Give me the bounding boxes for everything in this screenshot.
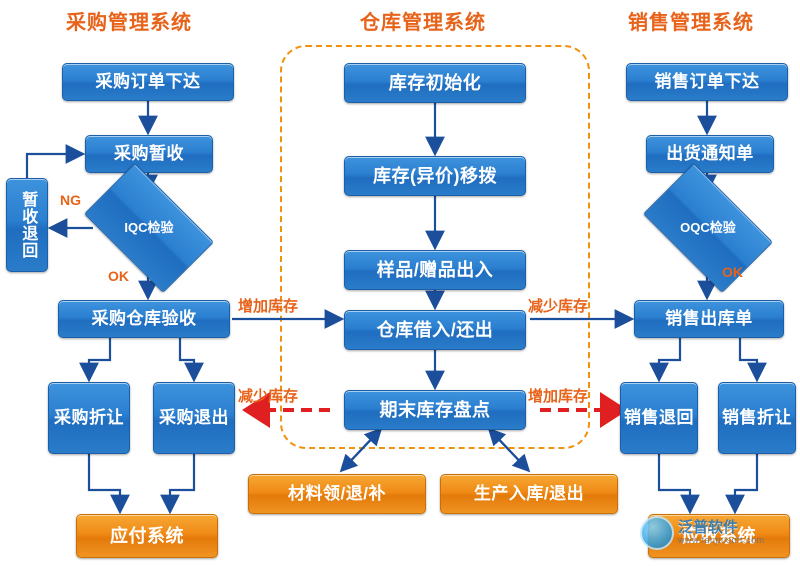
node-label: 采购订单下达 (96, 72, 201, 92)
node-warehouse-borrow-return[interactable]: 仓库借入/还出 (344, 310, 526, 350)
node-purchase-order-release[interactable]: 采购订单下达 (62, 63, 234, 101)
watermark: 泛普软件 www.fanpusoft.com (640, 505, 800, 561)
column-title-warehouse: 仓库管理系统 (360, 6, 486, 35)
node-sales-order-release[interactable]: 销售订单下达 (626, 63, 788, 101)
column-title-sales: 销售管理系统 (628, 6, 754, 35)
node-label: 暂收退回 (18, 191, 36, 259)
node-label: 采购退出 (159, 408, 229, 428)
node-label: 销售退回 (624, 408, 694, 428)
node-material-requisition[interactable]: 材料领/退/补 (248, 474, 426, 514)
node-label: 库存(异价)移拨 (373, 166, 497, 187)
node-sample-gift-inout[interactable]: 样品/赠品出入 (344, 250, 526, 290)
column-title-purchase: 采购管理系统 (66, 6, 192, 35)
decision-iqc-inspection[interactable]: IQC检验 (93, 192, 205, 264)
flow-label-decrease-stock-left: 减少库存 (238, 385, 298, 406)
node-label: 销售出库单 (665, 309, 753, 329)
node-label: 采购暂收 (114, 144, 184, 164)
node-label: 库存初始化 (389, 73, 482, 94)
node-label: 销售折让 (722, 408, 792, 428)
node-label: 样品/赠品出入 (377, 260, 494, 281)
node-sales-outbound-order[interactable]: 销售出库单 (634, 300, 784, 338)
flow-label-increase-stock-right: 增加库存 (528, 385, 588, 406)
node-label: 仓库借入/还出 (377, 320, 494, 341)
node-label: 期末库存盘点 (380, 400, 491, 421)
diagram-canvas: 采购管理系统 仓库管理系统 销售管理系统 (0, 0, 800, 566)
flow-label-increase-stock-left: 增加库存 (238, 295, 298, 316)
node-label: 应付系统 (110, 526, 184, 547)
watermark-url: www.fanpusoft.com (678, 536, 765, 545)
decision-label: IQC检验 (93, 192, 205, 264)
node-inventory-price-transfer[interactable]: 库存(异价)移拨 (344, 156, 526, 196)
flow-label-decrease-stock-right: 减少库存 (528, 295, 588, 316)
node-sales-return[interactable]: 销售退回 (620, 382, 698, 454)
node-purchase-warehouse-acceptance[interactable]: 采购仓库验收 (58, 300, 230, 338)
node-label: 生产入库/退出 (474, 484, 584, 504)
node-temp-receipt-return[interactable]: 暂收退回 (6, 178, 48, 272)
node-purchase-discount[interactable]: 采购折让 (48, 382, 130, 454)
node-label: 材料领/退/补 (288, 484, 386, 504)
node-label: 销售订单下达 (655, 72, 760, 92)
flow-label-ng: NG (60, 192, 81, 208)
decision-oqc-inspection[interactable]: OQC检验 (652, 192, 764, 264)
node-production-inbound[interactable]: 生产入库/退出 (440, 474, 618, 514)
brand-logo-icon (640, 516, 674, 550)
node-period-end-inventory-count[interactable]: 期末库存盘点 (344, 390, 526, 430)
node-purchase-temp-receipt[interactable]: 采购暂收 (85, 135, 213, 173)
node-label: 出货通知单 (666, 144, 754, 164)
node-purchase-return-out[interactable]: 采购退出 (153, 382, 235, 454)
flow-label-ok-left: OK (108, 268, 129, 284)
node-shipment-notice[interactable]: 出货通知单 (646, 135, 774, 173)
node-sales-discount[interactable]: 销售折让 (718, 382, 796, 454)
node-label: 采购仓库验收 (92, 309, 197, 329)
node-inventory-initialization[interactable]: 库存初始化 (344, 63, 526, 103)
node-label: 采购折让 (54, 408, 124, 428)
flow-label-ok-right: OK (722, 264, 743, 280)
decision-label: OQC检验 (652, 192, 764, 264)
node-payable-system[interactable]: 应付系统 (76, 514, 218, 558)
watermark-brand: 泛普软件 (678, 520, 765, 536)
